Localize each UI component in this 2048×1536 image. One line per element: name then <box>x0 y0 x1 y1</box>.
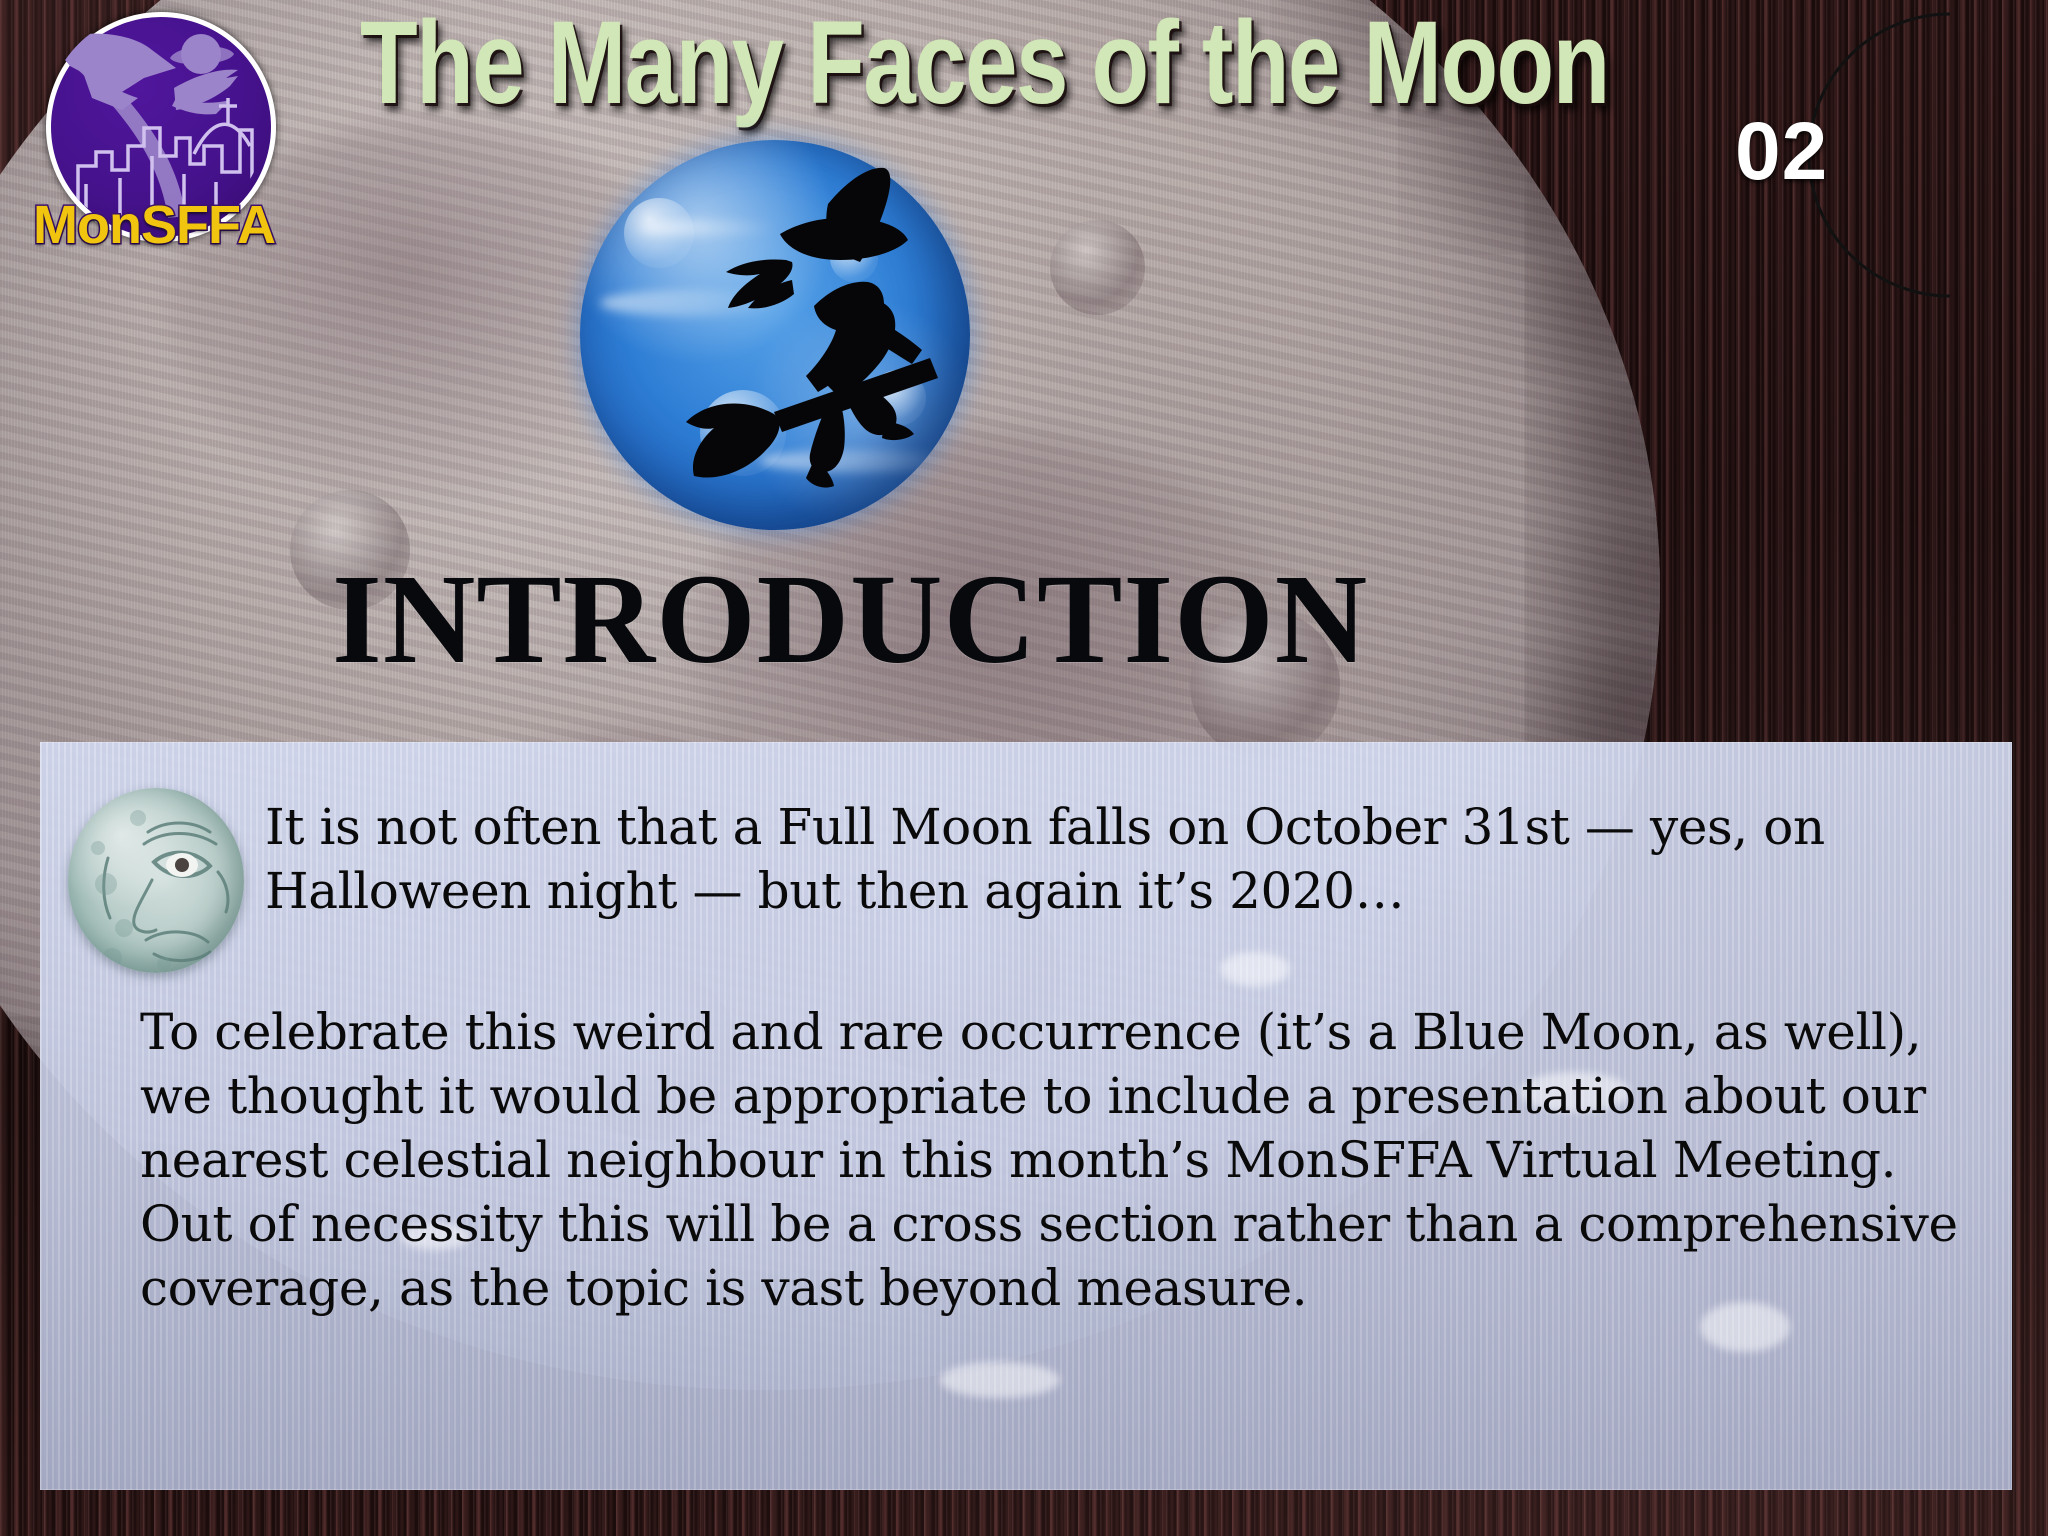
moon-nose <box>1880 168 1908 215</box>
intro-paragraph-2: To celebrate this weird and rare occurre… <box>140 1000 1980 1320</box>
man-in-the-moon-face-icon <box>68 788 244 973</box>
moon-nose <box>134 880 156 932</box>
witch-on-broomstick-icon <box>578 130 978 530</box>
monsffa-logo[interactable]: MonSFFA <box>26 6 282 268</box>
moon-eyebrow <box>1910 120 1966 128</box>
moon-mouth <box>146 932 208 942</box>
moon-pupil <box>175 858 189 872</box>
moon-eye <box>1912 140 1964 163</box>
moon-crater <box>1050 220 1145 315</box>
page-heading: INTRODUCTION <box>332 555 1368 683</box>
presentation-slide: MonSFFA The Many Faces of the Moon <box>0 0 2048 1536</box>
slide-title: The Many Faces of the Moon <box>360 4 1400 122</box>
moon-mouth <box>1888 227 1944 234</box>
moon-face-features <box>68 788 244 973</box>
logo-wordmark: MonSFFA <box>26 194 282 256</box>
moon-chin <box>1892 246 1946 253</box>
intro-paragraph-1: It is not often that a Full Moon falls o… <box>265 795 1965 923</box>
page-number: 02 <box>1735 105 1828 199</box>
moon-craters <box>91 810 171 971</box>
moon-pupil <box>1929 141 1947 159</box>
